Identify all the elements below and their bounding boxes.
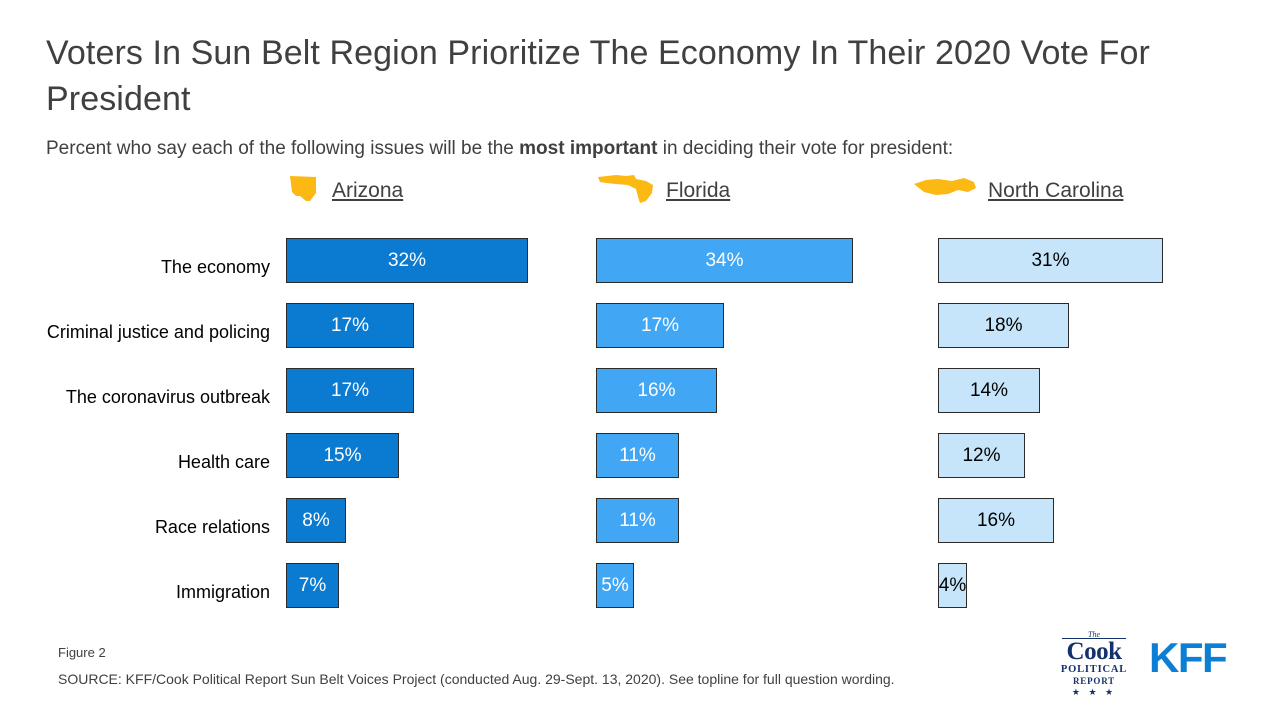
cook-logo-political: POLITICAL (1053, 665, 1135, 676)
subtitle-pre: Percent who say each of the following is… (46, 138, 519, 159)
subtitle-emphasis: most important (519, 138, 657, 159)
chart-rows: The economy32%34%31%Criminal justice and… (0, 234, 1280, 624)
bar-value-label: 11% (619, 445, 656, 467)
bar-value-label: 31% (1031, 250, 1069, 272)
page-title: Voters In Sun Belt Region Prioritize The… (46, 30, 1226, 122)
bar-value-label: 4% (939, 575, 966, 597)
bar-az: 7% (286, 563, 339, 608)
bar-fl: 17% (596, 303, 724, 348)
arizona-state-shape-icon (286, 174, 322, 209)
bar-az: 17% (286, 368, 414, 413)
bar-value-label: 12% (962, 445, 1000, 467)
kff-logo: KFF (1149, 634, 1226, 682)
bar-nc: 14% (938, 368, 1040, 413)
row-category-label: The coronavirus outbreak (40, 386, 270, 408)
row-category-label: Health care (40, 451, 270, 473)
subtitle-post: in deciding their vote for president: (657, 138, 953, 159)
bar-value-label: 8% (302, 510, 329, 532)
bar-value-label: 11% (619, 510, 656, 532)
cook-logo-stars: ★ ★ ★ (1053, 688, 1135, 697)
bar-value-label: 5% (601, 575, 628, 597)
cook-logo-cook: Cook (1053, 639, 1135, 664)
column-header-label: Florida (666, 179, 730, 203)
north-carolina-state-shape-icon (912, 176, 978, 207)
bar-value-label: 14% (970, 380, 1008, 402)
bar-nc: 31% (938, 238, 1163, 283)
cook-political-report-logo: The Cook POLITICAL REPORT ★ ★ ★ (1053, 629, 1135, 697)
cook-logo-report: REPORT (1053, 677, 1135, 686)
column-header-florida: Florida (596, 174, 730, 208)
bar-value-label: 16% (977, 510, 1015, 532)
bar-value-label: 15% (323, 445, 361, 467)
source-note: SOURCE: KFF/Cook Political Report Sun Be… (58, 671, 895, 687)
chart-row: Criminal justice and policing17%17%18% (0, 299, 1280, 364)
row-category-label: Immigration (40, 581, 270, 603)
bar-value-label: 18% (984, 315, 1022, 337)
bar-nc: 16% (938, 498, 1054, 543)
bar-fl: 34% (596, 238, 853, 283)
bar-value-label: 17% (331, 380, 369, 402)
cook-logo-the: The (1053, 631, 1135, 639)
bar-fl: 5% (596, 563, 634, 608)
bar-value-label: 17% (641, 315, 679, 337)
bar-az: 15% (286, 433, 399, 478)
bar-az: 8% (286, 498, 346, 543)
bar-value-label: 34% (705, 250, 743, 272)
figure-number: Figure 2 (58, 645, 106, 660)
column-header-label: Arizona (332, 179, 403, 203)
bar-value-label: 7% (299, 575, 326, 597)
chart-row: The economy32%34%31% (0, 234, 1280, 299)
chart-row: The coronavirus outbreak17%16%14% (0, 364, 1280, 429)
row-category-label: Criminal justice and policing (40, 321, 270, 343)
bar-nc: 18% (938, 303, 1069, 348)
row-category-label: Race relations (40, 516, 270, 538)
chart-row: Health care15%11%12% (0, 429, 1280, 494)
bar-az: 17% (286, 303, 414, 348)
bar-value-label: 32% (388, 250, 426, 272)
chart-row: Immigration7%5%4% (0, 559, 1280, 624)
column-header-north-carolina: North Carolina (912, 174, 1123, 208)
bar-value-label: 16% (637, 380, 675, 402)
chart-row: Race relations8%11%16% (0, 494, 1280, 559)
bar-fl: 16% (596, 368, 717, 413)
bar-az: 32% (286, 238, 528, 283)
bar-nc: 4% (938, 563, 967, 608)
row-category-label: The economy (40, 256, 270, 278)
florida-state-shape-icon (596, 173, 656, 210)
bar-fl: 11% (596, 433, 679, 478)
slide: Voters In Sun Belt Region Prioritize The… (0, 0, 1280, 720)
subtitle: Percent who say each of the following is… (46, 136, 1246, 162)
column-header-label: North Carolina (988, 179, 1123, 203)
bar-nc: 12% (938, 433, 1025, 478)
column-header-arizona: Arizona (286, 174, 403, 208)
bar-value-label: 17% (331, 315, 369, 337)
bar-fl: 11% (596, 498, 679, 543)
